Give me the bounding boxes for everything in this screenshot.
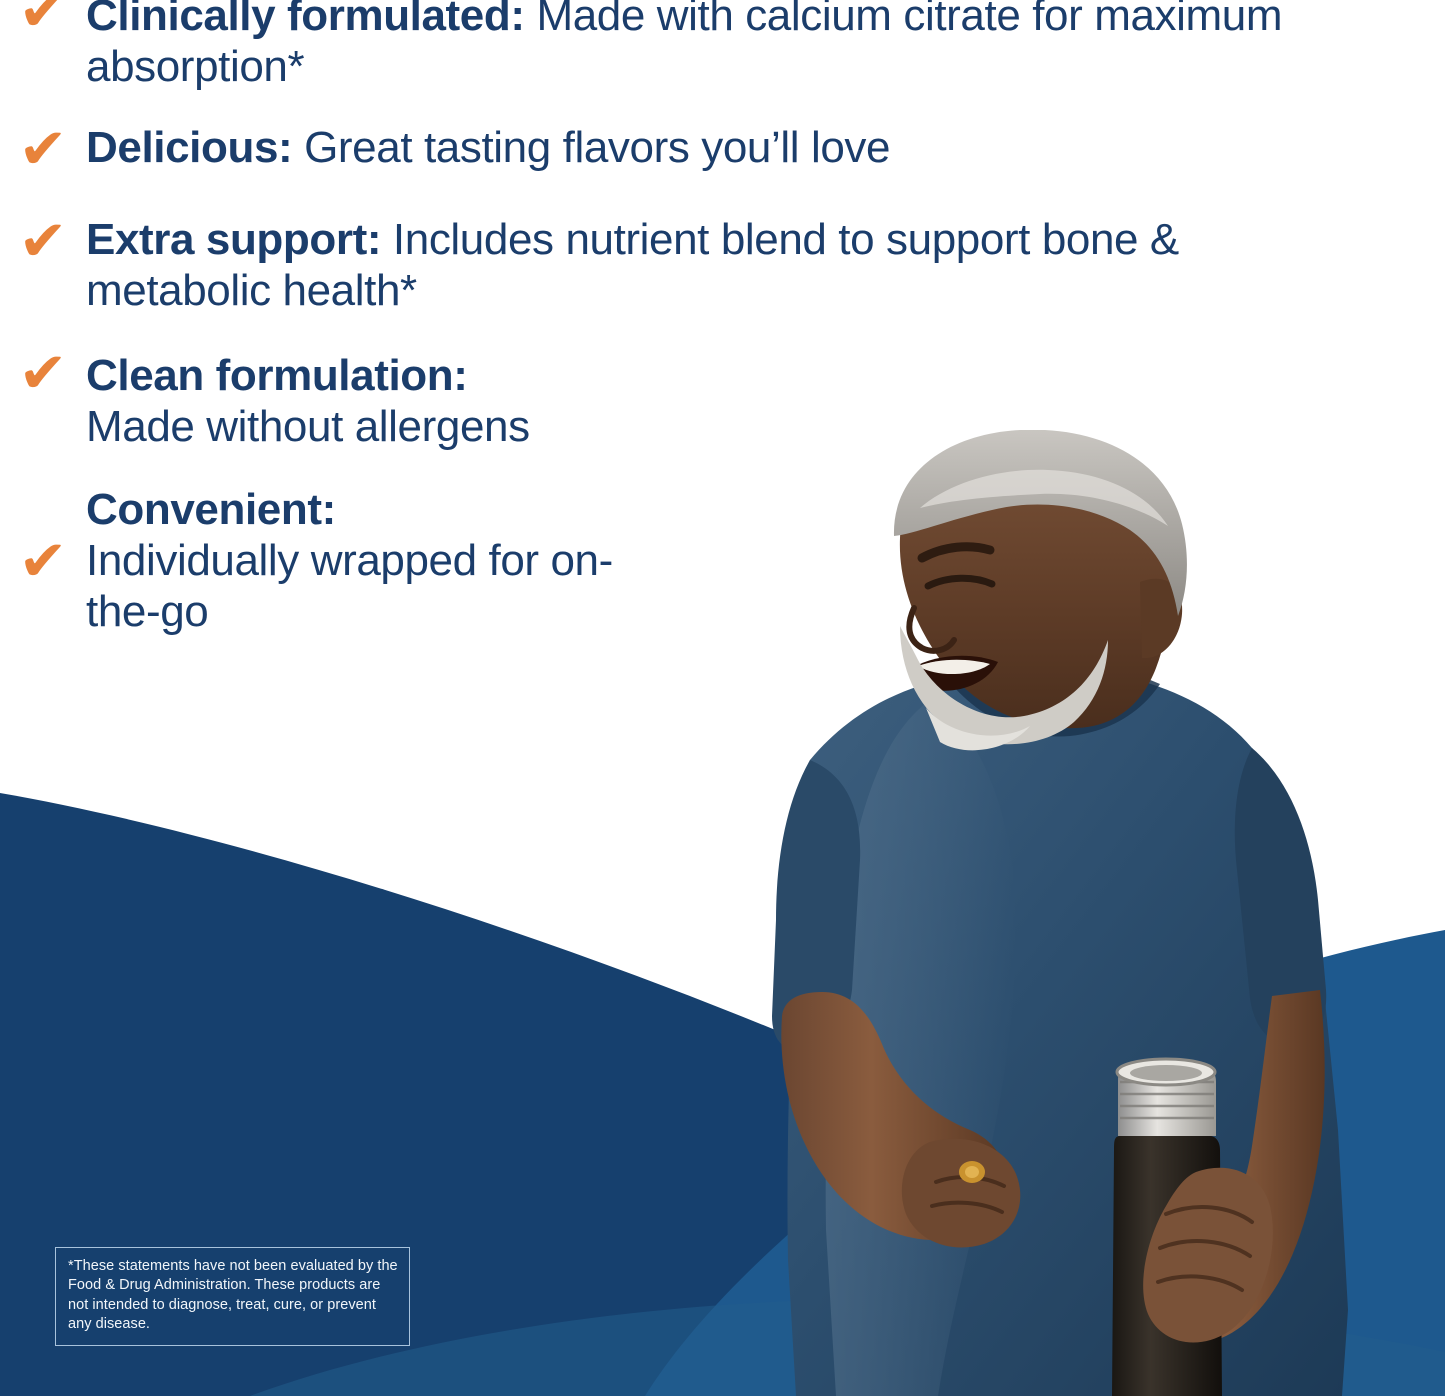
benefit-rest-5: Individually wrapped for on-the-go bbox=[86, 536, 613, 636]
benefit-lead-4: Clean formulation: bbox=[86, 351, 467, 400]
benefit-text-2: Delicious: Great tasting flavors you’ll … bbox=[86, 120, 1330, 173]
benefit-text-5: Convenient:Individually wrapped for on-t… bbox=[86, 482, 646, 637]
benefit-item-1: ✔ Clinically formulated: Made with calci… bbox=[0, 0, 1330, 92]
checkmark-icon: ✔ bbox=[0, 0, 88, 40]
marketing-banner: ✔ Clinically formulated: Made with calci… bbox=[0, 0, 1445, 1396]
fda-disclaimer-text: *These statements have not been evaluate… bbox=[68, 1258, 398, 1332]
checkmark-icon: ✔ bbox=[0, 534, 88, 590]
benefit-text-3: Extra support: Includes nutrient blend t… bbox=[86, 212, 1246, 316]
benefit-item-3: ✔ Extra support: Includes nutrient blend… bbox=[0, 212, 1330, 316]
checkmark-icon: ✔ bbox=[0, 122, 88, 178]
water-bottle-opening-inner bbox=[1130, 1065, 1202, 1081]
checkmark-icon: ✔ bbox=[0, 214, 88, 270]
lifestyle-photo-man bbox=[600, 430, 1360, 1396]
checkmark-icon: ✔ bbox=[0, 346, 88, 402]
benefit-lead-5: Convenient: bbox=[86, 485, 336, 534]
benefit-lead-2: Delicious: bbox=[86, 123, 292, 172]
benefit-rest-4: Made without allergens bbox=[86, 402, 530, 451]
benefit-rest-2: Great tasting flavors you’ll love bbox=[292, 123, 890, 172]
gold-ring-inner bbox=[965, 1166, 979, 1178]
fda-disclaimer: *These statements have not been evaluate… bbox=[55, 1247, 410, 1346]
benefit-lead-1: Clinically formulated: bbox=[86, 0, 525, 40]
benefit-text-1: Clinically formulated: Made with calcium… bbox=[86, 0, 1301, 92]
benefit-lead-3: Extra support: bbox=[86, 215, 381, 264]
benefit-item-2: ✔ Delicious: Great tasting flavors you’l… bbox=[0, 120, 1330, 178]
